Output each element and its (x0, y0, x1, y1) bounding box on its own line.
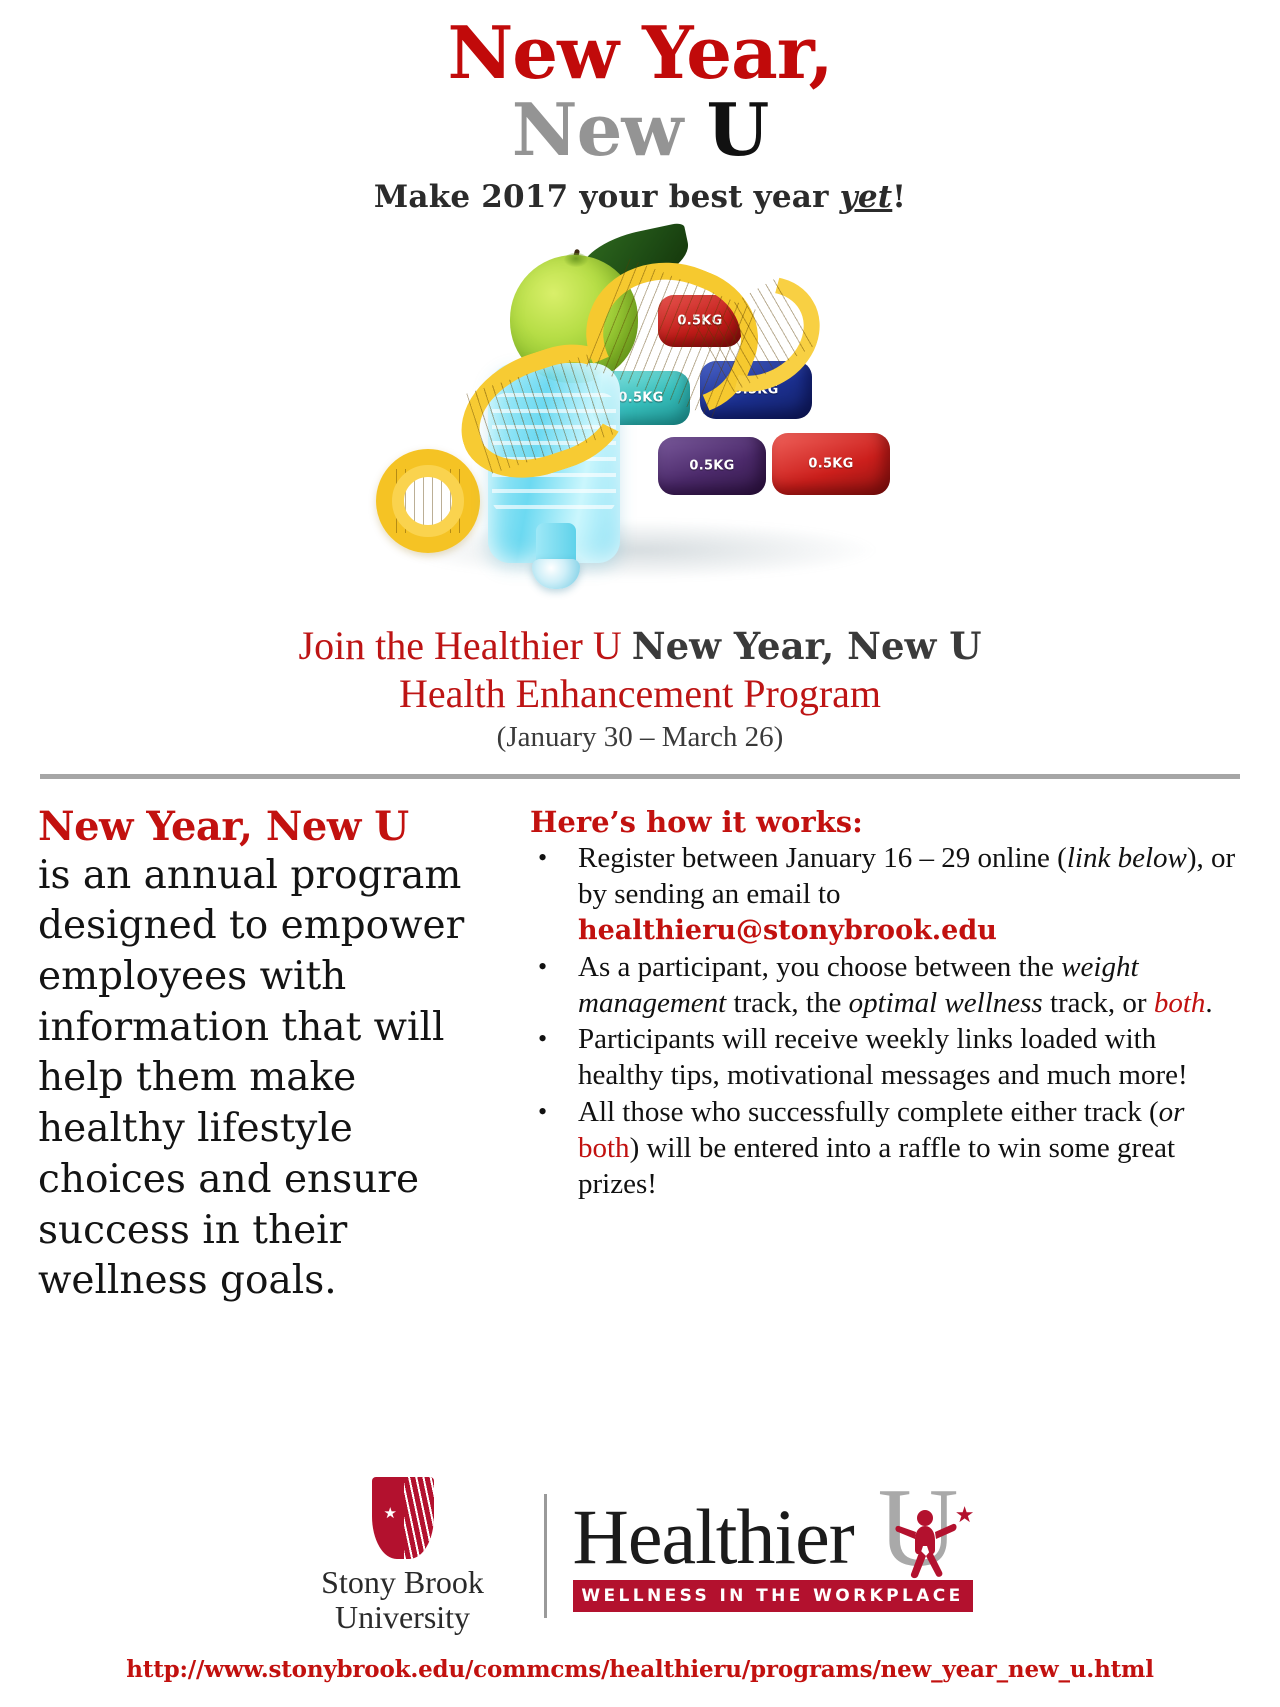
footer-logos: ★ Stony Brook University U ★ Healthier W… (0, 1471, 1280, 1641)
list-item: •Participants will receive weekly links … (530, 1022, 1242, 1094)
email-address[interactable]: healthieru@stonybrook.edu (578, 915, 997, 946)
bullet-icon: • (538, 841, 547, 875)
tagline-before: Make 2017 your best year (374, 179, 840, 215)
hero-image-fitness-items: 0.5KG 0.5KG 0.5KG 0.5KG 0.5KG (340, 223, 940, 608)
program-url-link[interactable]: http://www.stonybrook.edu/commcms/health… (0, 1656, 1280, 1683)
how-it-works-heading: Here’s how it works: (530, 805, 1242, 839)
list-item-text: track, the (726, 987, 848, 1019)
list-item-text: link below (1067, 842, 1187, 874)
hero-shadow (400, 520, 880, 580)
list-item-text: both (1154, 987, 1206, 1019)
list-item-text: ) will be entered into a raffle to win s… (578, 1132, 1175, 1200)
list-item-text: both (578, 1132, 630, 1164)
tagline-after: ! (892, 179, 906, 215)
bullet-icon: • (538, 1095, 547, 1129)
list-item: •All those who successfully complete eit… (530, 1095, 1242, 1203)
sbu-line-2: University (321, 1600, 484, 1635)
list-item-text: or (1159, 1096, 1185, 1128)
sbu-line-1: Stony Brook (321, 1565, 484, 1600)
stony-brook-university-logo: ★ Stony Brook University (288, 1477, 518, 1635)
measuring-tape-coil-inner (392, 465, 464, 537)
subheading-red-part: Join the Healthier U (299, 623, 632, 668)
list-item-text: Participants will receive weekly links l… (578, 1023, 1188, 1091)
star-icon: ★ (384, 1507, 397, 1522)
left-column-heading: New Year, New U (38, 803, 409, 850)
star-accent-icon: ★ (955, 1502, 975, 1528)
subheading-line-2: Health Enhancement Program (0, 670, 1280, 717)
stony-brook-wordmark: Stony Brook University (321, 1565, 484, 1635)
page-title-u: U (706, 87, 768, 172)
program-subheading: Join the Healthier U New Year, New U Hea… (0, 622, 1280, 753)
bullet-icon: • (538, 1022, 547, 1056)
page-title-new: New (512, 87, 683, 172)
right-column: Here’s how it works: •Register between J… (530, 805, 1242, 1307)
left-column-body: is an annual program designed to empower… (38, 851, 508, 1307)
subheading-dark-part: New Year, New U (632, 624, 982, 668)
page-title-line-1: New Year, (0, 18, 1280, 89)
logo-separator (544, 1494, 547, 1618)
dumbbell-red: 0.5KG (772, 433, 890, 495)
page-title-line-2: New U (0, 89, 1280, 172)
program-dates: (January 30 – March 26) (0, 721, 1280, 754)
list-item-text: All those who successfully complete eith… (578, 1096, 1159, 1128)
tagline-emphasis: yet (840, 179, 893, 215)
shield-icon: ★ (372, 1477, 434, 1559)
content-columns: New Year, New U is an annual program des… (0, 805, 1280, 1307)
how-it-works-list: •Register between January 16 – 29 online… (530, 841, 1242, 1204)
tagline: Make 2017 your best year yet! (0, 179, 1280, 215)
horizontal-divider (40, 774, 1240, 779)
shield-rays (404, 1477, 434, 1559)
list-item-text: Register between January 16 – 29 online … (578, 842, 1067, 874)
running-person-icon (895, 1506, 957, 1580)
list-item: •As a participant, you choose between th… (530, 950, 1242, 1022)
list-item-text: track, or (1043, 987, 1154, 1019)
list-item: •Register between January 16 – 29 online… (530, 841, 1242, 949)
list-item-text: optimal wellness (849, 987, 1043, 1019)
poster-page: New Year, New U Make 2017 your best year… (0, 0, 1280, 1707)
poster-header: New Year, New U Make 2017 your best year… (0, 0, 1280, 215)
water-bottle-cap (532, 559, 580, 589)
dumbbell-weight-label: 0.5KG (658, 459, 766, 474)
dumbbell-weight-label: 0.5KG (772, 457, 890, 472)
healthier-u-logo: U ★ Healthier WELLNESS IN THE WORKPLACE (573, 1500, 993, 1613)
dumbbell-purple: 0.5KG (658, 437, 766, 495)
bullet-icon: • (538, 950, 547, 984)
left-column: New Year, New U is an annual program des… (38, 805, 508, 1307)
subheading-line-1: Join the Healthier U New Year, New U (0, 622, 1280, 669)
list-item-text: . (1205, 987, 1212, 1019)
list-item-text: As a participant, you choose between the (578, 951, 1061, 983)
